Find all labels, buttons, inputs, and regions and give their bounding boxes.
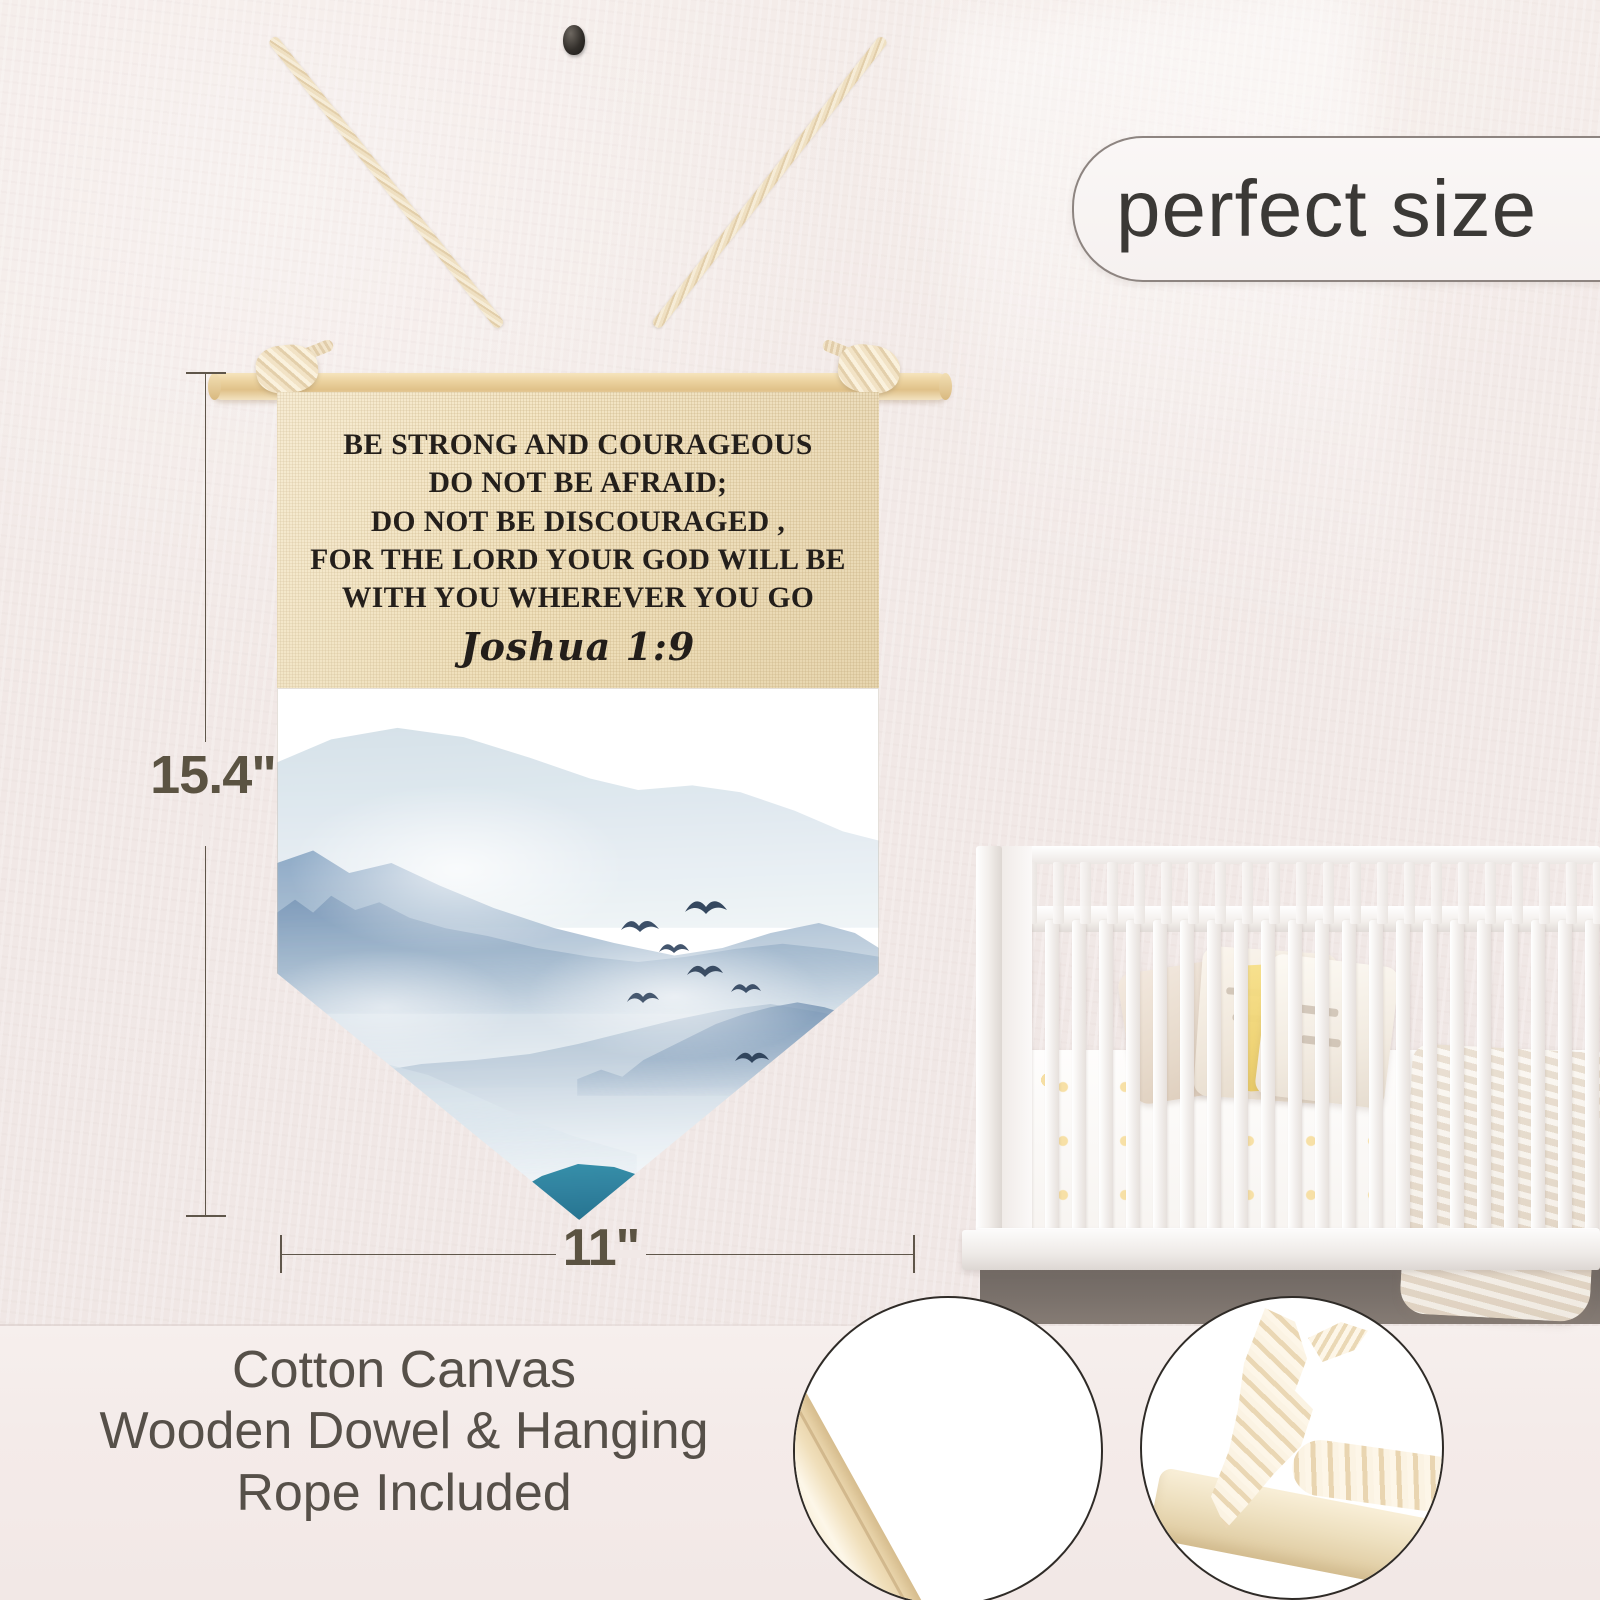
caption-line: Rope Included [24, 1463, 784, 1524]
crib-slat [1261, 920, 1275, 1238]
crib-slat [1072, 920, 1086, 1238]
height-dimension-label: 15.4" [128, 744, 298, 806]
crib-slat [1099, 920, 1113, 1238]
wall-nail-icon [563, 25, 585, 55]
verse-line: FOR THE LORD YOUR GOD WILL BE [277, 541, 879, 579]
product-listing-image: perfect size [0, 0, 1600, 1600]
detail-inset-rope-knot [1140, 1296, 1444, 1600]
bird-icon [625, 988, 661, 1008]
crib-slat [1450, 920, 1464, 1238]
rope-closeup-tail [1308, 1322, 1368, 1362]
crib-slat-back [1080, 862, 1091, 924]
crib-slat-back [1377, 862, 1388, 924]
caption-line: Cotton Canvas [24, 1340, 784, 1401]
crib-slat [1045, 920, 1059, 1238]
perfect-size-label: perfect size [1116, 163, 1537, 255]
crib-slat [1585, 920, 1599, 1238]
crib-slat [1558, 920, 1572, 1238]
crib-slat [1396, 920, 1410, 1238]
verse-line: DO NOT BE DISCOURAGED , [277, 503, 879, 541]
bird-icon [619, 916, 661, 938]
crib-slat-back [1485, 862, 1496, 924]
bird-icon [729, 980, 763, 998]
crib-slat [1126, 920, 1140, 1238]
crib-slat [1369, 920, 1383, 1238]
crib-slat-back [1107, 862, 1118, 924]
detail-inset-wooden-dowel [793, 1296, 1103, 1600]
crib-slat [1477, 920, 1491, 1238]
crib-slat [1423, 920, 1437, 1238]
sunlight-streak [937, 0, 1443, 860]
width-cap-left [280, 1235, 282, 1273]
crib-base [962, 1230, 1600, 1270]
crib-slat-back [1566, 862, 1577, 924]
width-dimension-label: 11" [551, 1218, 651, 1278]
crib-slat [1207, 920, 1221, 1238]
dowel-end-left [208, 373, 221, 400]
crib-slat-back [1512, 862, 1523, 924]
crib-slat [1180, 920, 1194, 1238]
crib-slat-back [1215, 862, 1226, 924]
height-cap-bottom [186, 1215, 226, 1217]
dowel-end-right [939, 373, 952, 400]
crib-slat [1288, 920, 1302, 1238]
crib-slat-back [1296, 862, 1307, 924]
crib-slat-back [1458, 862, 1469, 924]
crib-slat-back [1134, 862, 1145, 924]
crib-slat [1234, 920, 1248, 1238]
crib-slat-back [1242, 862, 1253, 924]
crib-slat-back [1593, 862, 1600, 924]
crib-slat [1315, 920, 1329, 1238]
width-cap-right [913, 1235, 915, 1273]
crib-slats [1018, 920, 1600, 1238]
crib-side-panel [1002, 846, 1032, 1270]
crib-slat-back [1539, 862, 1550, 924]
bird-icon [733, 1048, 771, 1068]
caption-line: Wooden Dowel & Hanging [24, 1401, 784, 1462]
bird-icon [685, 960, 725, 982]
crib-slat [1504, 920, 1518, 1238]
crib-slat-back [1404, 862, 1415, 924]
crib-slat-back [1269, 862, 1280, 924]
crib-slat-back [1323, 862, 1334, 924]
perfect-size-badge: perfect size [1072, 136, 1600, 282]
crib-slat-back [1350, 862, 1361, 924]
crib-slat-back [1431, 862, 1442, 924]
crib-slat-back [1161, 862, 1172, 924]
materials-caption: Cotton CanvasWooden Dowel & HangingRope … [24, 1340, 784, 1524]
crib-slat-back [1053, 862, 1064, 924]
crib-slat-back [1188, 862, 1199, 924]
crib-slat [1531, 920, 1545, 1238]
crib-slat [1342, 920, 1356, 1238]
crib-corner-post [976, 846, 1002, 1270]
height-cap-top [186, 372, 226, 374]
banner-verse-text: BE STRONG AND COURAGEOUSDO NOT BE AFRAID… [277, 426, 879, 618]
verse-line: WITH YOU WHEREVER YOU GO [277, 579, 879, 617]
verse-line: BE STRONG AND COURAGEOUS [277, 426, 879, 464]
bird-icon [683, 896, 729, 920]
verse-line: DO NOT BE AFRAID; [277, 464, 879, 502]
baby-crib [962, 800, 1600, 1340]
bird-icon [657, 940, 691, 958]
crib-slat [1153, 920, 1167, 1238]
banner-verse-reference: Joshua 1:9 [277, 624, 879, 669]
